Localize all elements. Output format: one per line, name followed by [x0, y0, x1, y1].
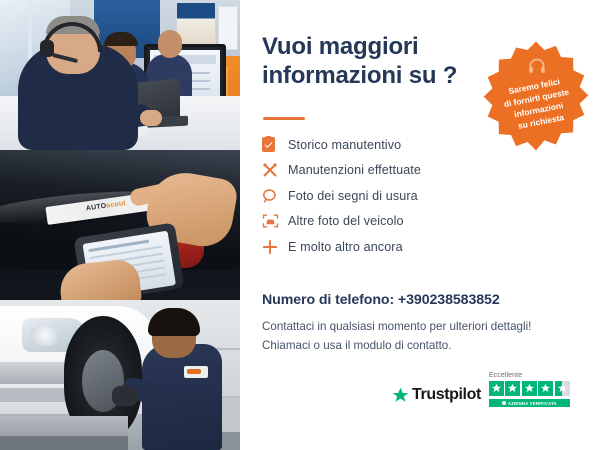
list-item-label: Manutenzioni effettuate [288, 163, 421, 177]
star-filled [538, 381, 553, 396]
plus-icon [262, 239, 288, 255]
operator-hand [140, 110, 162, 126]
list-item[interactable]: E molto altro ancora [262, 234, 532, 260]
trustpilot-widget[interactable]: Trustpilot Eccellente [392, 372, 570, 407]
call-center-photo [0, 0, 240, 150]
uniform-logo-patch [184, 366, 208, 378]
star-filled [522, 381, 537, 396]
photo-column: AUTOscout [0, 0, 240, 450]
verified-check-icon [502, 401, 506, 405]
page-title: Vuoi maggiori informazioni su ? [262, 32, 472, 91]
page-title-line-2: informazioni su ? [262, 61, 472, 90]
list-item[interactable]: Foto dei segni di usura [262, 183, 532, 209]
content-panel: Vuoi maggiori informazioni su ? Saremo f… [240, 0, 600, 450]
list-item-label: Foto dei segni di usura [288, 189, 418, 203]
page-title-line-1: Vuoi maggiori [262, 32, 472, 61]
list-item-label: Altre foto del veicolo [288, 214, 404, 228]
star-half [555, 381, 570, 396]
tools-cross-icon [262, 162, 288, 178]
promo-card: AUTOscout [0, 0, 600, 450]
strip-logo-text: AUTOscout [86, 200, 127, 213]
star-filled [489, 381, 504, 396]
list-item-label: Storico manutentivo [288, 138, 401, 152]
star-filled [505, 381, 520, 396]
list-item-label: E molto altro ancora [288, 240, 403, 254]
contact-paragraph-line-2: Chiamaci o usa il modulo di contatto. [262, 337, 582, 356]
wall-poster [176, 2, 216, 50]
list-item[interactable]: Storico manutentivo [262, 132, 532, 158]
list-item[interactable]: Manutenzioni effettuate [262, 158, 532, 184]
mechanic-glove [112, 386, 138, 406]
trustpilot-name: Trustpilot [412, 386, 481, 404]
background-worker-3-head [158, 30, 182, 58]
trustpilot-star-icon [392, 387, 409, 404]
trustpilot-verified-badge: AZIENDA VERIFICATA [489, 399, 570, 407]
magnifier-icon [262, 188, 288, 204]
trustpilot-rating: Eccellente [489, 372, 570, 407]
verified-label: AZIENDA VERIFICATA [508, 401, 557, 406]
title-divider [263, 117, 305, 120]
feature-list: Storico manutentivo Manutenzioni effettu… [262, 132, 532, 260]
contact-paragraph-line-1: Contattaci in qualsiasi momento per ulte… [262, 318, 582, 337]
contact-paragraph: Contattaci in qualsiasi momento per ulte… [262, 318, 582, 356]
trustpilot-stars [489, 381, 570, 396]
list-item[interactable]: Altre foto del veicolo [262, 209, 532, 235]
car-lift-base [0, 436, 128, 450]
phone-number[interactable]: Numero di telefono: +390238583852 [262, 292, 592, 308]
wheel-inspection-photo [0, 300, 240, 450]
paint-inspection-photo: AUTOscout [0, 150, 240, 300]
trustpilot-rating-label: Eccellente [489, 372, 522, 379]
trustpilot-logo: Trustpilot [392, 386, 481, 407]
clipboard-check-icon [262, 137, 288, 152]
scan-car-icon [262, 213, 288, 229]
